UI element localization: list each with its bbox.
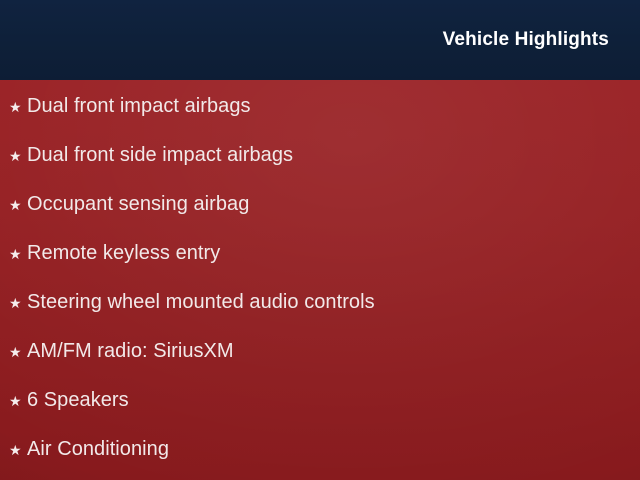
star-bullet-icon: ★ xyxy=(9,295,27,310)
list-item-label: 6 Speakers xyxy=(27,390,129,411)
list-item: ★ AM/FM radio: SiriusXM xyxy=(9,338,234,364)
list-item-label: Air Conditioning xyxy=(27,439,169,460)
list-item-label: Dual front impact airbags xyxy=(27,96,251,117)
list-item-label: Remote keyless entry xyxy=(27,243,220,264)
star-bullet-icon: ★ xyxy=(9,99,27,114)
vehicle-highlights-slide: Vehicle Highlights ★ Dual front impact a… xyxy=(0,0,640,480)
list-item-label: AM/FM radio: SiriusXM xyxy=(27,341,234,362)
list-item-label: Dual front side impact airbags xyxy=(27,145,293,166)
list-item-label: Occupant sensing airbag xyxy=(27,194,249,215)
list-item: ★ Occupant sensing airbag xyxy=(9,191,249,217)
star-bullet-icon: ★ xyxy=(9,246,27,261)
page-title: Vehicle Highlights xyxy=(443,30,609,50)
star-bullet-icon: ★ xyxy=(9,197,27,212)
vehicle-highlights-list: ★ Dual front impact airbags ★ Dual front… xyxy=(0,80,640,480)
star-bullet-icon: ★ xyxy=(9,393,27,408)
list-item: ★ Air Conditioning xyxy=(9,436,169,462)
list-item-label: Steering wheel mounted audio controls xyxy=(27,292,375,313)
list-item: ★ Dual front impact airbags xyxy=(9,93,251,119)
star-bullet-icon: ★ xyxy=(9,344,27,359)
star-bullet-icon: ★ xyxy=(9,442,27,457)
header-bar: Vehicle Highlights xyxy=(0,0,640,80)
star-bullet-icon: ★ xyxy=(9,148,27,163)
list-item: ★ 6 Speakers xyxy=(9,387,129,413)
list-item: ★ Steering wheel mounted audio controls xyxy=(9,289,375,315)
list-item: ★ Remote keyless entry xyxy=(9,240,220,266)
list-item: ★ Dual front side impact airbags xyxy=(9,142,293,168)
